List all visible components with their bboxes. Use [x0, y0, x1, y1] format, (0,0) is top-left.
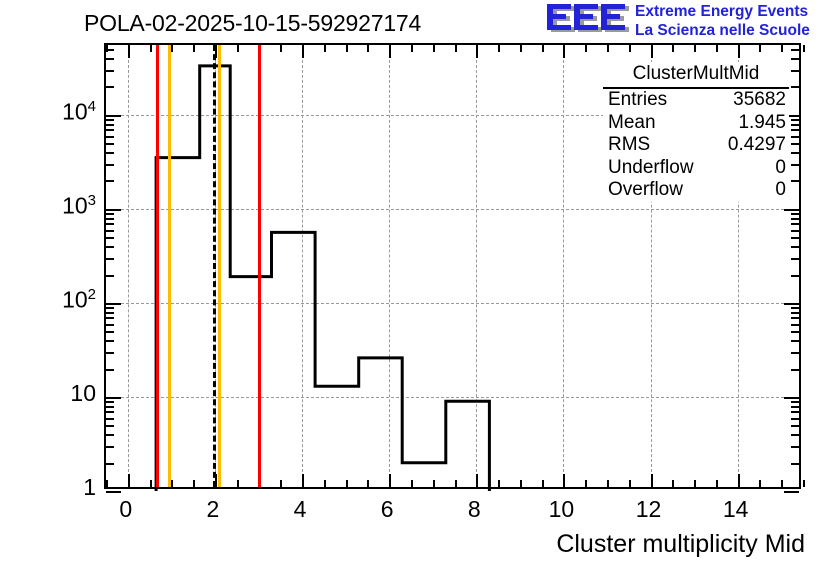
x-axis-tick-label: 2: [207, 496, 220, 523]
axis-tick: [803, 45, 805, 52]
root-canvas: POLA-02-2025-10-15-592927174: [0, 0, 836, 572]
x-axis-tick-label: 10: [549, 496, 575, 523]
eee-logo-text: Extreme Energy Events La Scienza nelle S…: [635, 2, 835, 40]
stats-rows: Entries35682Mean1.945RMS0.4297Underflow0…: [603, 89, 789, 202]
y-axis-tick-label: 1: [83, 474, 96, 501]
stats-value: 0: [775, 157, 786, 180]
lower-red-limit-line: [156, 45, 159, 487]
stats-key: Underflow: [608, 157, 694, 180]
x-axis-tick-label: 0: [119, 496, 132, 523]
stats-row: Entries35682: [603, 89, 789, 112]
x-axis-tick-label: 14: [723, 496, 749, 523]
eee-logo: Extreme Energy Events La Scienza nelle S…: [543, 2, 833, 42]
axis-tick: [106, 491, 121, 493]
eee-logo-mark: [543, 3, 629, 35]
y-axis-tick-label: 103: [62, 192, 96, 220]
stats-row: Overflow0: [603, 179, 789, 202]
axis-tick: [803, 480, 805, 487]
y-axis-tick-label: 104: [62, 98, 96, 126]
upper-red-limit-line: [258, 45, 261, 487]
stats-row: Underflow0: [603, 157, 789, 180]
stats-key: Entries: [608, 89, 667, 112]
x-axis-tick-label: 12: [636, 496, 662, 523]
stats-value: 35682: [733, 89, 786, 112]
stats-key: RMS: [608, 134, 650, 157]
x-axis-title: Cluster multiplicity Mid: [556, 530, 805, 559]
stats-value: 0: [775, 179, 786, 202]
stats-value: 1.945: [738, 112, 786, 135]
y-axis-tick-label: 102: [62, 286, 96, 314]
stats-key: Overflow: [608, 179, 683, 202]
stats-value: 0.4297: [728, 134, 786, 157]
y-axis-tick-label: 10: [70, 380, 96, 407]
eee-tagline-2: La Scienza nelle Scuole: [635, 21, 835, 40]
upper-orange-limit-line: [218, 45, 221, 487]
stats-row: RMS0.4297: [603, 134, 789, 157]
stats-row: Mean1.945: [603, 112, 789, 135]
mean-line-line: [213, 45, 216, 487]
stats-title: ClusterMultMid: [603, 62, 789, 89]
axis-tick: [784, 491, 799, 493]
x-axis-tick-label: 8: [468, 496, 481, 523]
x-axis-tick-label: 4: [294, 496, 307, 523]
stats-box: ClusterMultMid Entries35682Mean1.945RMS0…: [603, 62, 789, 202]
eee-tagline-1: Extreme Energy Events: [635, 2, 835, 21]
x-axis-tick-label: 6: [381, 496, 394, 523]
page-title: POLA-02-2025-10-15-592927174: [84, 10, 421, 37]
stats-key: Mean: [608, 112, 656, 135]
lower-orange-limit-line: [168, 45, 171, 487]
